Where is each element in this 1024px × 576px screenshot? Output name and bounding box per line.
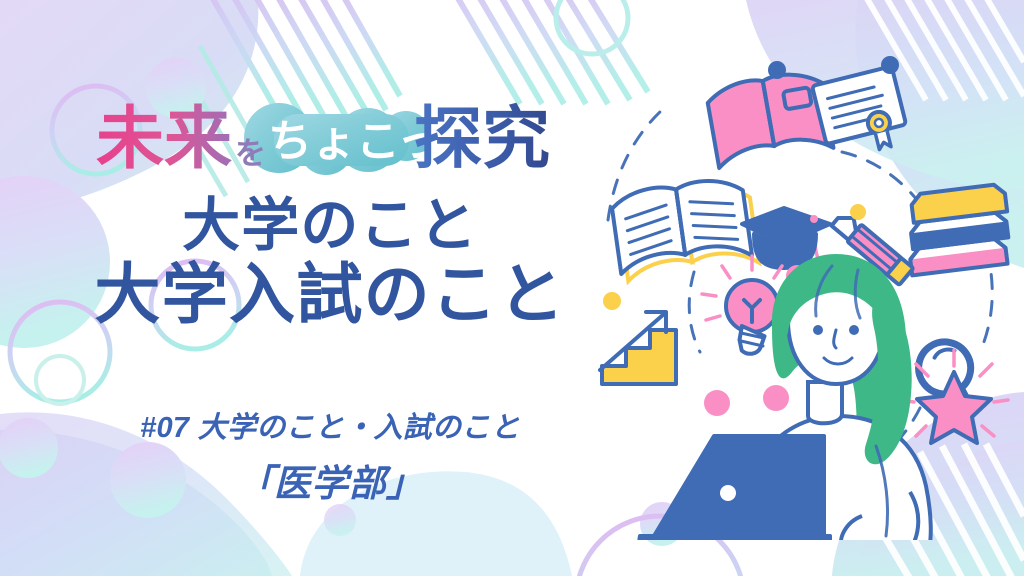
bg-circle-outline-3 [36, 356, 84, 404]
laptop-logo [720, 485, 736, 501]
star [900, 350, 1008, 443]
open-book-white [610, 175, 759, 282]
logo-segment-tankyu: 探究 [414, 100, 550, 179]
stairs-chart [600, 312, 676, 384]
eye-left [813, 325, 823, 335]
series-logo-art: 未来 を ちょこっと 探究 [96, 96, 566, 182]
open-book-pink [705, 68, 833, 168]
diploma-certificate [812, 66, 910, 162]
logo-segment-wo: を [235, 136, 266, 172]
bg-circle-filled-2 [0, 418, 58, 478]
title-line-1: 大学のこと [60, 196, 600, 256]
subtitle-line-1: #07 大学のこと・入試のこと [60, 404, 600, 446]
bg-circle-filled-6 [324, 504, 356, 536]
laptop [639, 436, 830, 540]
subtitle-line-2: 「医学部」 [60, 453, 600, 507]
subtitle-block: #07 大学のこと・入試のこと 「医学部」 [60, 404, 600, 507]
stacked-books [902, 184, 1013, 276]
illustration-group: .ln{fill:none;stroke:#3F6CB5;stroke-widt… [590, 40, 1024, 540]
title-line-2: 大学入試のこと [60, 260, 600, 329]
main-title: 大学のこと 大学入試のこと [60, 196, 600, 329]
logo-segment-mirai: 未来 [96, 100, 232, 179]
banner-canvas: 未来 を ちょこっと 探究 未来をちょこっと探究 大学のこと 大学入試のこと #… [0, 0, 1024, 576]
eye-right [849, 325, 859, 335]
series-logo: 未来 を ちょこっと 探究 未来をちょこっと探究 [96, 96, 566, 182]
